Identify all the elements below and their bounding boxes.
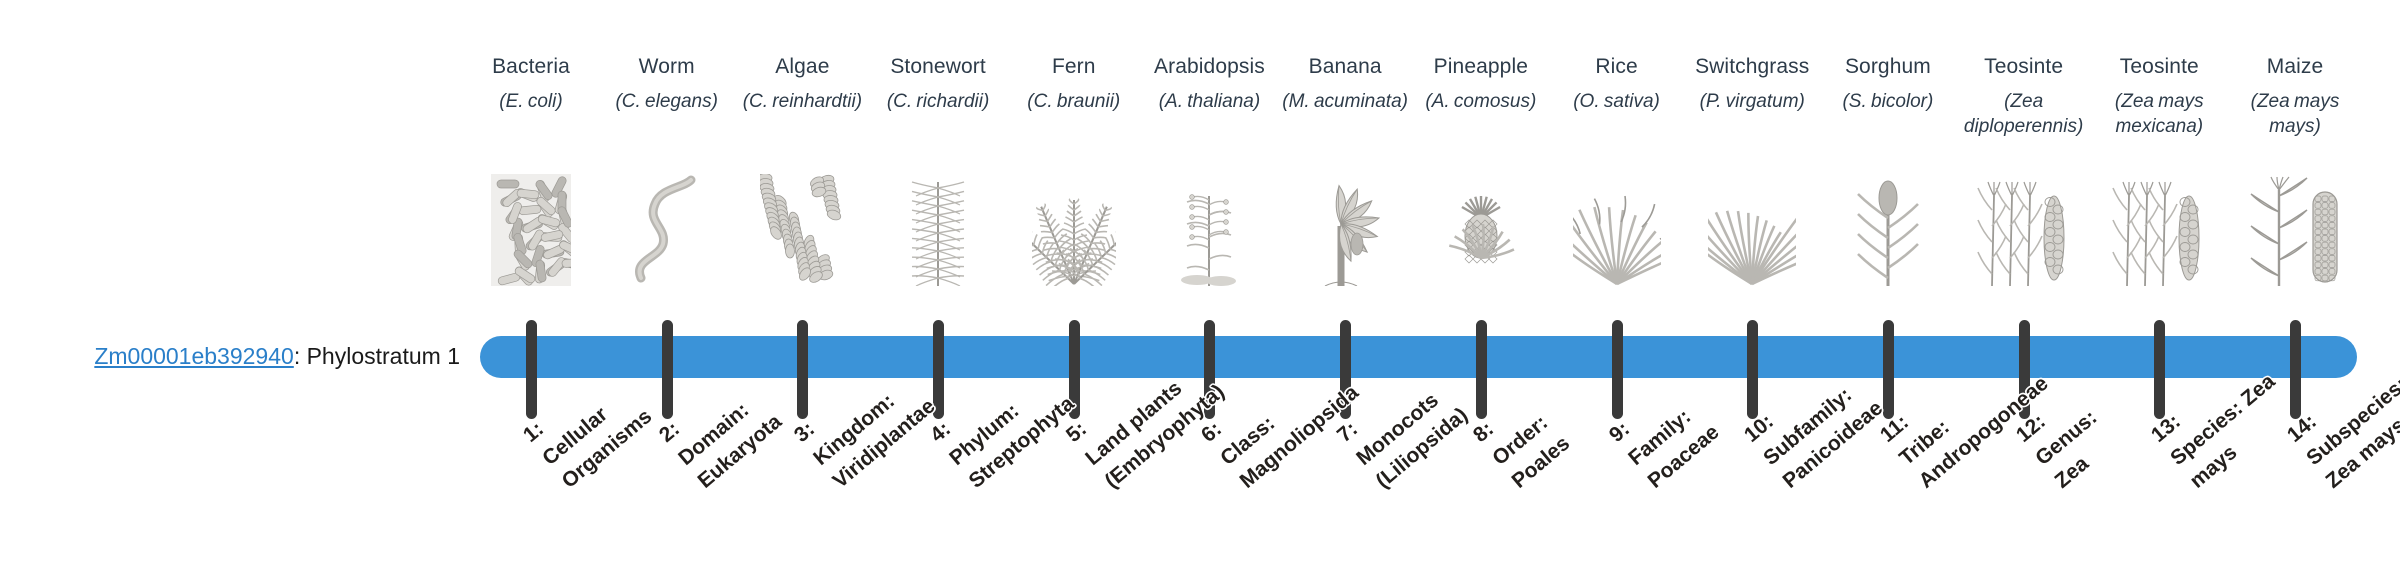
phylostratum-timeline-figure: Bacteria(E. coli)Worm(C. elegans) Algae(… <box>0 0 2400 580</box>
species-scientific-name: (Zea mays mays) <box>2227 89 2363 139</box>
phylostratum-value: Phylostratum 1 <box>307 343 460 369</box>
gene-phylostratum-label: Zm00001eb392940: Phylostratum 1 <box>40 340 460 372</box>
species-column-maize-13: Maize(Zea mays mays) <box>2227 52 2363 139</box>
species-column-teosinte-11: Teosinte(Zea diploperennis) <box>1956 52 2092 139</box>
species-common-name: Maize <box>2227 52 2363 82</box>
timeline-tick-1 <box>526 320 537 419</box>
species-common-name: Sorghum <box>1820 52 1956 82</box>
species-common-name: Fern <box>1006 52 1142 82</box>
species-scientific-name: (Zea diploperennis) <box>1956 89 2092 139</box>
teosinte-icon <box>1956 168 2092 286</box>
species-column-banana-6: Banana(M. acuminata) <box>1277 52 1413 114</box>
species-common-name: Teosinte <box>1956 52 2092 82</box>
species-common-name: Worm <box>599 52 735 82</box>
species-column-stonewort-3: Stonewort(C. richardii) <box>870 52 1006 114</box>
species-scientific-name: (C. richardii) <box>870 89 1006 114</box>
species-common-name: Banana <box>1277 52 1413 82</box>
species-scientific-name: (C. reinhardtii) <box>734 89 870 114</box>
algae-icon <box>734 168 870 286</box>
species-common-name: Arabidopsis <box>1141 52 1277 82</box>
gene-id-link[interactable]: Zm00001eb392940 <box>94 343 294 369</box>
maize-icon <box>2227 168 2363 286</box>
species-scientific-name: (S. bicolor) <box>1820 89 1956 114</box>
species-scientific-name: (C. braunii) <box>1006 89 1142 114</box>
species-scientific-name: (E. coli) <box>463 89 599 114</box>
species-column-bacteria-0: Bacteria(E. coli) <box>463 52 599 114</box>
species-scientific-name: (Zea mays mexicana) <box>2091 89 2227 139</box>
species-scientific-name: (O. sativa) <box>1549 89 1685 114</box>
species-column-fern-4: Fern(C. braunii) <box>1006 52 1142 114</box>
stonewort-icon <box>870 168 1006 286</box>
species-column-teosinte-12: Teosinte(Zea mays mexicana) <box>2091 52 2227 139</box>
fern-icon <box>1006 168 1142 286</box>
sorghum-icon <box>1820 168 1956 286</box>
species-column-worm-1: Worm(C. elegans) <box>599 52 735 114</box>
gene-label-separator: : <box>294 343 307 369</box>
bacteria-icon <box>463 168 599 286</box>
worm-icon <box>599 168 735 286</box>
species-common-name: Bacteria <box>463 52 599 82</box>
species-common-name: Pineapple <box>1413 52 1549 82</box>
species-scientific-name: (P. virgatum) <box>1684 89 1820 114</box>
species-scientific-name: (M. acuminata) <box>1277 89 1413 114</box>
species-scientific-name: (A. comosus) <box>1413 89 1549 114</box>
species-common-name: Teosinte <box>2091 52 2227 82</box>
species-column-rice-8: Rice(O. sativa) <box>1549 52 1685 114</box>
banana-icon <box>1277 168 1413 286</box>
species-common-name: Rice <box>1549 52 1685 82</box>
species-column-switchgrass-9: Switchgrass(P. virgatum) <box>1684 52 1820 114</box>
species-scientific-name: (A. thaliana) <box>1141 89 1277 114</box>
species-column-arabidopsis-5: Arabidopsis(A. thaliana) <box>1141 52 1277 114</box>
species-column-algae-2: Algae(C. reinhardtii) <box>734 52 870 114</box>
rice-icon <box>1549 168 1685 286</box>
species-common-name: Stonewort <box>870 52 1006 82</box>
switchgrass-icon <box>1684 168 1820 286</box>
species-column-sorghum-10: Sorghum(S. bicolor) <box>1820 52 1956 114</box>
species-column-pineapple-7: Pineapple(A. comosus) <box>1413 52 1549 114</box>
species-common-name: Switchgrass <box>1684 52 1820 82</box>
species-scientific-name: (C. elegans) <box>599 89 735 114</box>
teosinte-ear-icon <box>2091 168 2227 286</box>
species-common-name: Algae <box>734 52 870 82</box>
pineapple-icon <box>1413 168 1549 286</box>
arabidopsis-icon <box>1141 168 1277 286</box>
